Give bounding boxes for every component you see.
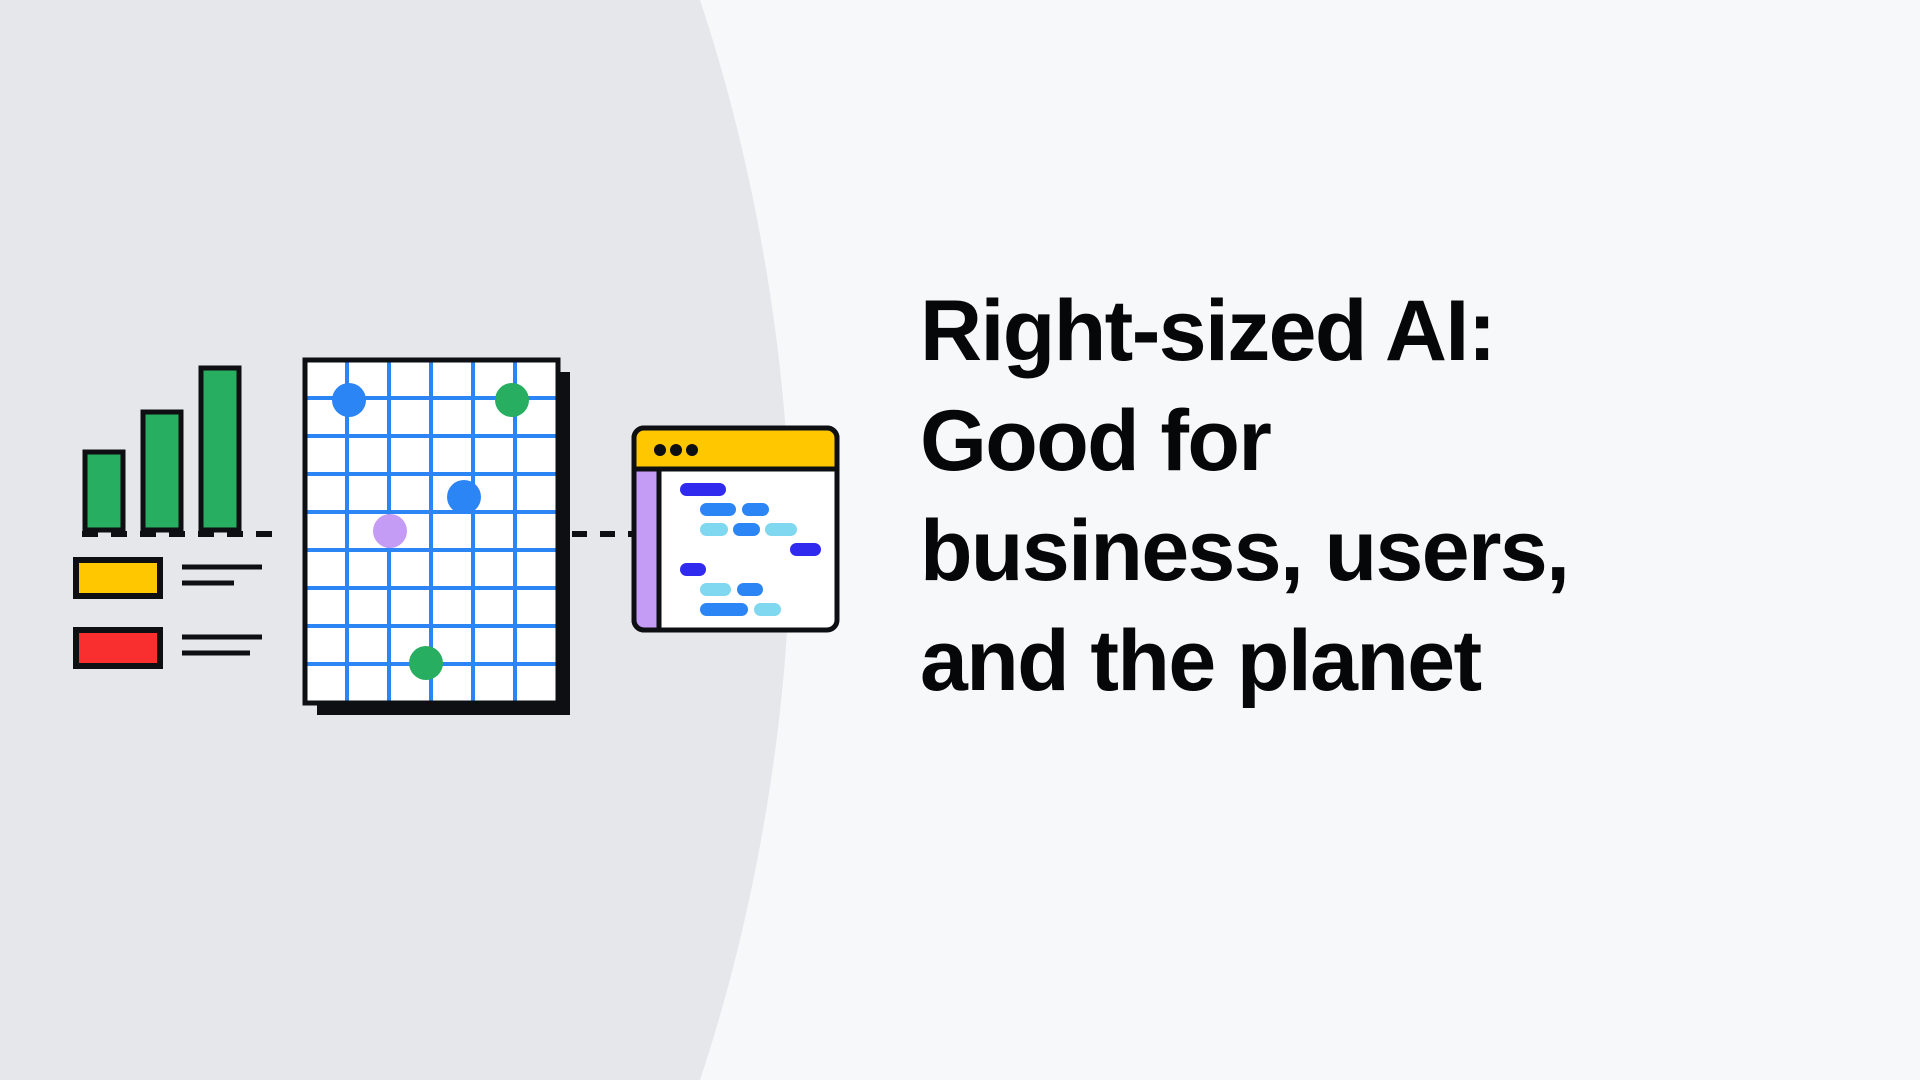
code-window-sidebar: [634, 469, 659, 630]
legend-row-critical: [76, 630, 262, 666]
point-green-top-right: [495, 383, 529, 417]
code-editor-window: [634, 428, 837, 630]
legend-swatch-warning: [76, 560, 160, 596]
point-green-bottom: [409, 646, 443, 680]
bar-2: [143, 412, 181, 530]
page-title-line-3: business, users,: [920, 496, 1820, 606]
code-token: [765, 523, 797, 536]
bar-1: [85, 452, 123, 530]
page-title: Right-sized AI: Good for business, users…: [920, 276, 1820, 716]
code-token: [754, 603, 781, 616]
window-dot-3[interactable]: [686, 444, 698, 456]
grid-scatter-plot: [305, 360, 570, 715]
window-dot-1[interactable]: [654, 444, 666, 456]
code-token: [790, 543, 821, 556]
code-token: [733, 523, 760, 536]
code-token: [680, 563, 706, 576]
point-purple-center: [373, 514, 407, 548]
page-title-line-2: Good for: [920, 386, 1820, 496]
code-token: [700, 523, 728, 536]
code-token: [742, 503, 769, 516]
bar-3: [201, 368, 239, 530]
code-token: [737, 583, 763, 596]
legend-row-warning: [76, 560, 262, 596]
point-blue-center: [447, 480, 481, 514]
code-token: [700, 503, 736, 516]
point-blue-top-left: [332, 383, 366, 417]
code-token: [680, 483, 726, 496]
code-token: [700, 583, 731, 596]
code-token: [700, 603, 748, 616]
window-dot-2[interactable]: [670, 444, 682, 456]
page-title-line-4: and the planet: [920, 606, 1820, 716]
legend-swatch-critical: [76, 630, 160, 666]
growth-bar-chart: [85, 368, 239, 530]
page-title-line-1: Right-sized AI:: [920, 276, 1820, 386]
illustration-group: [0, 0, 900, 1080]
